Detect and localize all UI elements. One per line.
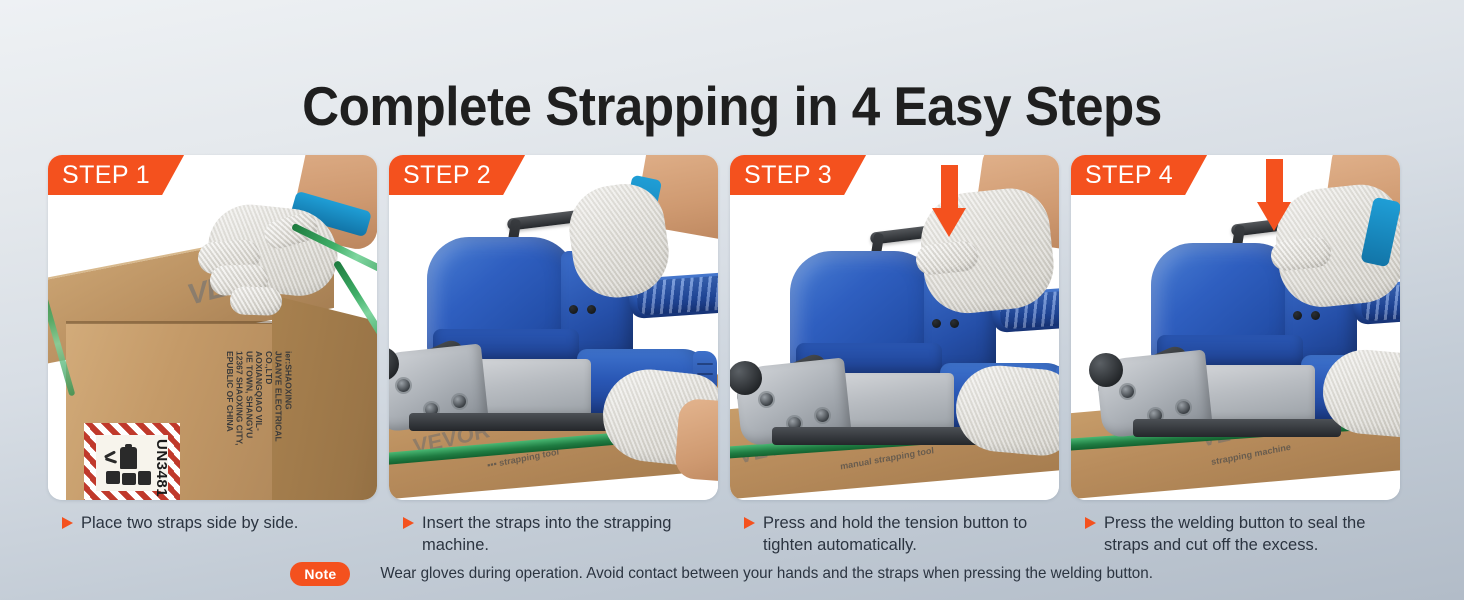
step-3-caption-text: Press and hold the tension button to tig… — [763, 513, 1053, 557]
note-badge: Note — [290, 562, 350, 586]
triangle-right-icon — [403, 517, 414, 529]
arrow-down-icon — [1257, 159, 1291, 231]
step-4-image-card: VEVOR strapping machine — [1071, 155, 1400, 500]
arrow-head — [1257, 202, 1291, 231]
tool-roller — [1089, 353, 1123, 387]
battery-icon — [104, 447, 160, 491]
step-3-image-card: VEVOR manual strapping tool — [730, 155, 1059, 500]
step-4-caption: Press the welding button to seal the str… — [1071, 513, 1400, 557]
step-4-photo: VEVOR strapping machine — [1071, 155, 1400, 500]
tool-bolt-3 — [816, 409, 829, 422]
tool-bolt-1 — [1121, 385, 1134, 398]
step-4-caption-text: Press the welding button to seal the str… — [1104, 513, 1394, 557]
step-2-caption-text: Insert the straps into the strapping mac… — [422, 513, 712, 557]
carton-top-edge — [66, 321, 272, 324]
step-badge-2: STEP 2 — [389, 155, 525, 195]
step-3-caption: Press and hold the tension button to tig… — [730, 513, 1059, 557]
arrow-shaft — [941, 165, 958, 211]
carton-address-print: ier:SHAOXING JUANYE ELECTRICAL CO.,LTD A… — [224, 351, 292, 500]
page-title: Complete Strapping in 4 Easy Steps — [51, 74, 1413, 138]
step-card-3: VEVOR manual strapping tool — [730, 155, 1059, 557]
tool-bolt-1 — [397, 379, 410, 392]
tool-base-plate — [409, 413, 617, 431]
note-bar: Note Wear gloves during operation. Avoid… — [0, 562, 1464, 586]
step-badge-1: STEP 1 — [48, 155, 184, 195]
triangle-right-icon — [1085, 517, 1096, 529]
carton-un-hazard-label: UN3481 — [84, 423, 180, 500]
step-card-2: VEVOR ▪▪▪ strapping tool — [389, 155, 718, 557]
step-card-1: VEVOR ier:SHAOXING JUANYE ELECTRICAL CO.… — [48, 155, 377, 557]
page-title-wrapper: Complete Strapping in 4 Easy Steps — [0, 74, 1464, 138]
step-2-photo: VEVOR ▪▪▪ strapping tool — [389, 155, 718, 500]
step-1-caption: Place two straps side by side. — [48, 513, 377, 535]
step-2-image-card: VEVOR ▪▪▪ strapping tool — [389, 155, 718, 500]
step-card-4: VEVOR strapping machine — [1071, 155, 1400, 557]
arrow-down-icon — [932, 165, 966, 237]
step-badge-4: STEP 4 — [1071, 155, 1207, 195]
glove-finger-3 — [230, 286, 283, 316]
tool-base-plate — [772, 427, 980, 445]
step-badge-3: STEP 3 — [730, 155, 866, 195]
tool-bolt-3 — [453, 395, 466, 408]
hazard-label-inner: UN3481 — [96, 435, 168, 491]
steps-row: VEVOR ier:SHAOXING JUANYE ELECTRICAL CO.… — [48, 155, 1418, 557]
arrow-shaft — [1266, 159, 1283, 205]
tool-bolt-3 — [1177, 401, 1190, 414]
forearm-lower — [674, 398, 718, 484]
step-3-photo: VEVOR manual strapping tool — [730, 155, 1059, 500]
step-2-caption: Insert the straps into the strapping mac… — [389, 513, 718, 557]
arrow-head — [932, 208, 966, 237]
step-1-image-card: VEVOR ier:SHAOXING JUANYE ELECTRICAL CO.… — [48, 155, 377, 500]
tool-bolt-1 — [760, 393, 773, 406]
step-1-photo: VEVOR ier:SHAOXING JUANYE ELECTRICAL CO.… — [48, 155, 377, 500]
tool-base-plate — [1133, 419, 1341, 437]
note-text: Wear gloves during operation. Avoid cont… — [381, 565, 1154, 583]
step-1-caption-text: Place two straps side by side. — [81, 513, 298, 535]
triangle-right-icon — [62, 517, 73, 529]
un-number-text: UN3481 — [153, 439, 170, 497]
triangle-right-icon — [744, 517, 755, 529]
